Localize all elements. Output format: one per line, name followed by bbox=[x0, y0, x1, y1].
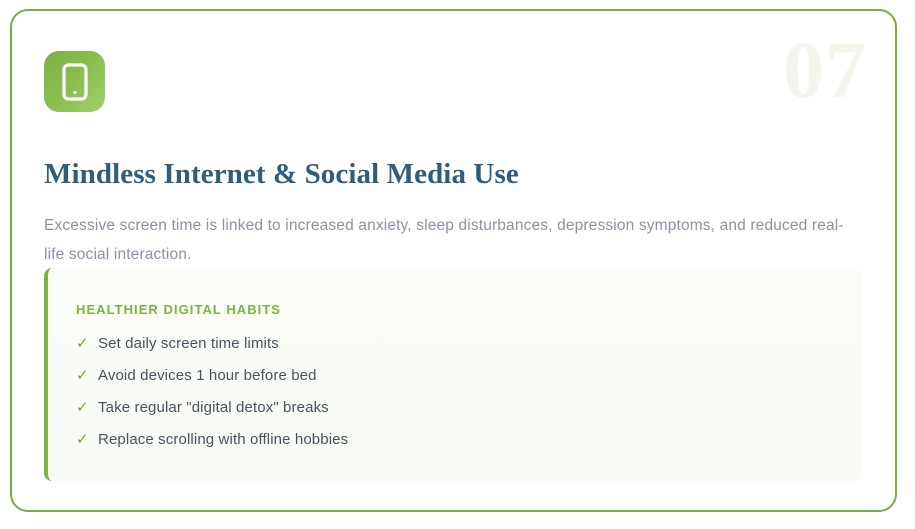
list-item: ✓ Take regular "digital detox" breaks bbox=[76, 400, 842, 432]
list-item: ✓ Set daily screen time limits bbox=[76, 336, 842, 368]
card-description: Excessive screen time is linked to incre… bbox=[44, 211, 844, 269]
list-item-label: Replace scrolling with offline hobbies bbox=[98, 432, 348, 447]
check-icon: ✓ bbox=[76, 336, 98, 351]
list-item-label: Avoid devices 1 hour before bed bbox=[98, 368, 317, 383]
list-item: ✓ Replace scrolling with offline hobbies bbox=[76, 432, 842, 464]
habits-list: ✓ Set daily screen time limits ✓ Avoid d… bbox=[76, 336, 842, 464]
list-item-label: Take regular "digital detox" breaks bbox=[98, 400, 329, 415]
card-number-watermark: 07 bbox=[783, 29, 867, 111]
check-icon: ✓ bbox=[76, 432, 98, 447]
tip-card: 07 Mindless Internet & Social Media Use … bbox=[10, 9, 897, 512]
list-item-label: Set daily screen time limits bbox=[98, 336, 279, 351]
smartphone-icon-tile bbox=[44, 51, 105, 112]
check-icon: ✓ bbox=[76, 400, 98, 415]
page-title: Mindless Internet & Social Media Use bbox=[44, 158, 519, 191]
smartphone-icon bbox=[62, 63, 88, 101]
healthier-habits-panel: HEALTHIER DIGITAL HABITS ✓ Set daily scr… bbox=[44, 268, 862, 481]
screenshot-canvas: 07 Mindless Internet & Social Media Use … bbox=[0, 0, 915, 529]
list-item: ✓ Avoid devices 1 hour before bed bbox=[76, 368, 842, 400]
check-icon: ✓ bbox=[76, 368, 98, 383]
habits-panel-heading: HEALTHIER DIGITAL HABITS bbox=[76, 302, 281, 317]
